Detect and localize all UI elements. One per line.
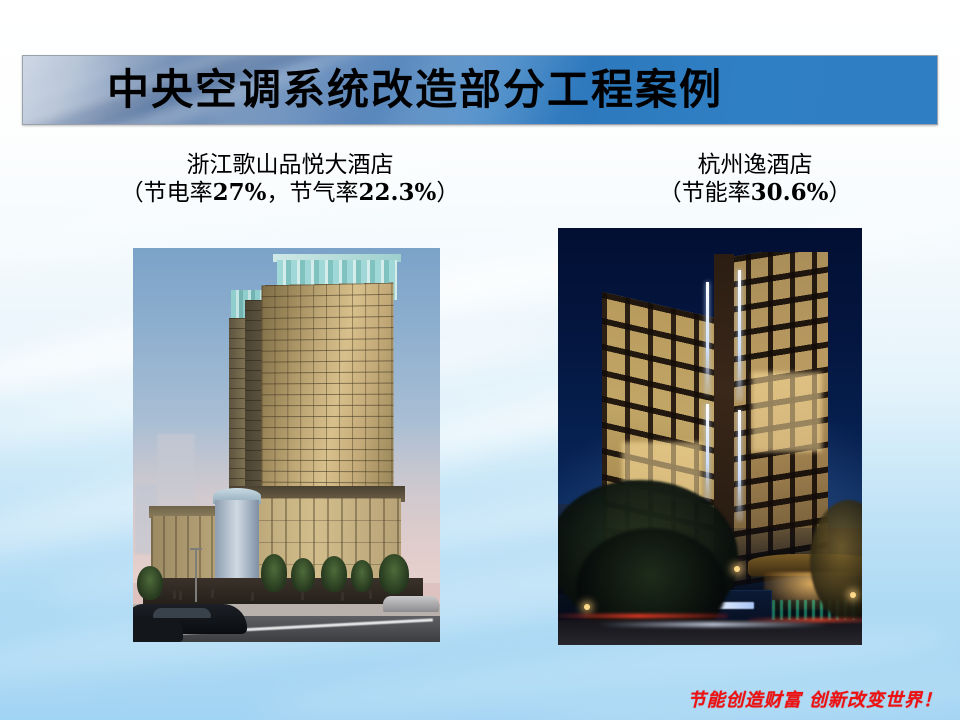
street-tree <box>351 560 373 592</box>
case-left-name: 浙江歌山品悦大酒店 <box>90 152 490 179</box>
metrics-prefix: （节电率 <box>121 180 213 206</box>
car-window <box>153 608 211 618</box>
case-right-photo <box>558 228 862 645</box>
metrics-prefix: （节能率 <box>659 180 751 206</box>
case-left-metrics: （节电率27%，节气率22.3%） <box>90 179 490 207</box>
footer-slogan: 节能创造财富 创新改变世界！ <box>688 686 942 712</box>
case-right-name: 杭州逸酒店 <box>590 152 920 179</box>
metrics-suffix: ） <box>828 180 851 206</box>
light-trail-red <box>558 614 728 618</box>
caption-right: 杭州逸酒店 （节能率30.6%） <box>590 152 920 207</box>
street-tree <box>291 558 315 592</box>
car-silver <box>383 596 439 612</box>
metric-saving-energy: 30.6% <box>751 179 829 206</box>
vertical-light-strip <box>738 410 741 520</box>
case-right-metrics: （节能率30.6%） <box>590 179 920 207</box>
street-tree <box>137 566 163 600</box>
vertical-light-strip <box>706 282 709 394</box>
caption-left: 浙江歌山品悦大酒店 （节电率27%，节气率22.3%） <box>90 152 490 207</box>
street-lamp <box>584 604 590 610</box>
metrics-middle: ，节气率 <box>267 180 359 206</box>
street-tree <box>261 554 287 592</box>
pedestrian <box>211 589 214 598</box>
street-lamp-arm <box>190 548 202 550</box>
title-banner: 中央空调系统改造部分工程案例 <box>22 55 938 125</box>
pedestrian <box>369 590 372 599</box>
vertical-light-strip <box>738 270 741 400</box>
street-lamp <box>850 592 856 598</box>
light-trail-white <box>598 622 828 627</box>
pedestrian <box>341 592 344 601</box>
page-title: 中央空调系统改造部分工程案例 <box>107 69 723 111</box>
street-lamp <box>734 566 740 572</box>
metric-saving-electricity: 27% <box>213 179 267 206</box>
street-tree <box>379 554 409 594</box>
rotunda <box>215 500 259 586</box>
car-black-rear <box>133 620 183 642</box>
pedestrian <box>173 590 176 599</box>
street-lamp-post <box>195 550 197 602</box>
case-left-photo <box>133 248 440 642</box>
pedestrian <box>251 592 254 601</box>
metrics-suffix: ） <box>436 180 459 206</box>
window-glow <box>752 372 822 452</box>
vertical-light-strip <box>706 404 709 500</box>
metric-saving-gas: 22.3% <box>359 179 437 206</box>
slide-root: 中央空调系统改造部分工程案例 浙江歌山品悦大酒店 （节电率27%，节气率22.3… <box>0 0 960 720</box>
street-tree <box>321 556 347 592</box>
pedestrian <box>179 591 182 600</box>
pedestrian <box>301 591 304 600</box>
